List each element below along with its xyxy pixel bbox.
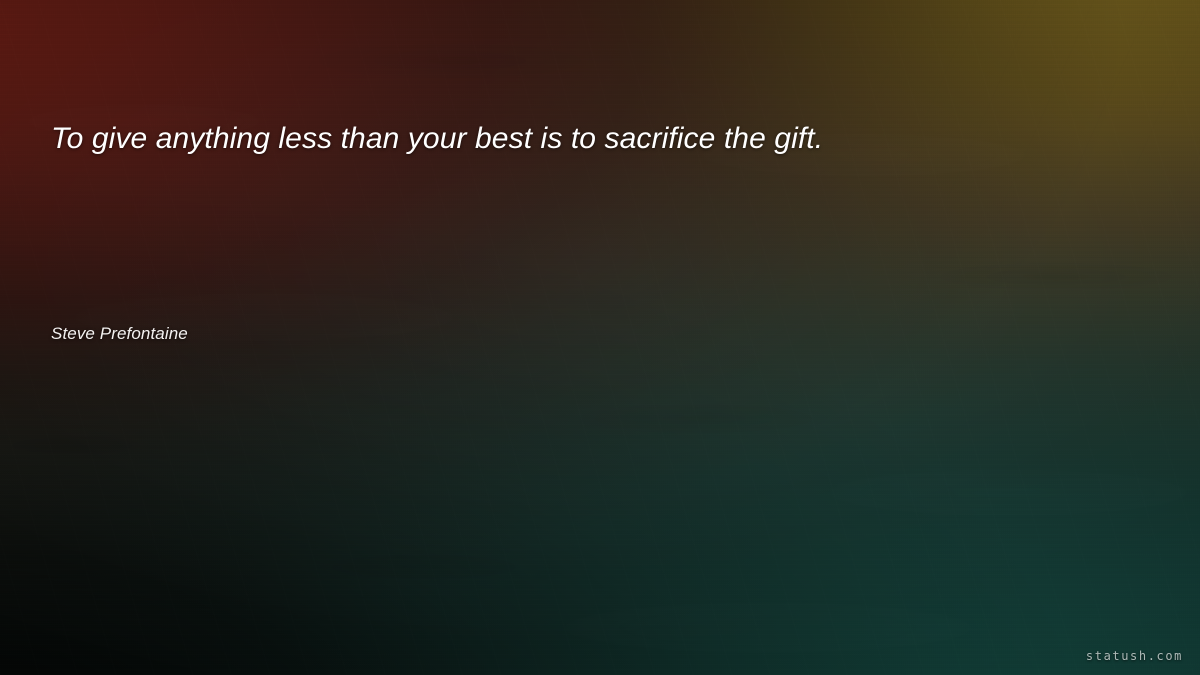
site-watermark: statush.com [1086,649,1183,663]
quote-image-canvas: To give anything less than your best is … [0,0,1200,675]
content-layer: To give anything less than your best is … [0,0,1200,675]
quote-body-text: To give anything less than your best is … [51,119,1151,159]
quote-author-name: Steve Prefontaine [51,322,188,346]
